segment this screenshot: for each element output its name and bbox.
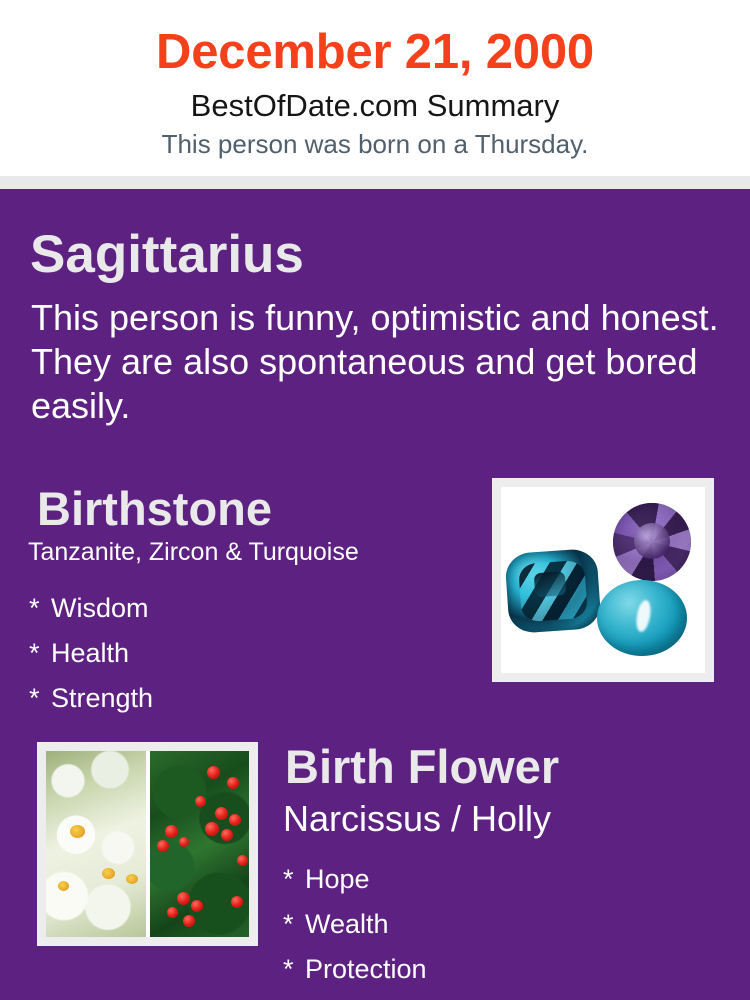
list-item: *Health	[29, 631, 153, 676]
holly-berry-icon	[179, 837, 189, 847]
holly-berry-icon	[229, 814, 241, 826]
holly-berry-icon	[231, 896, 243, 908]
birthstone-image-frame	[492, 478, 714, 682]
asterisk-bullet-icon: *	[283, 947, 305, 992]
zodiac-description: This person is funny, optimistic and hon…	[31, 296, 731, 428]
narcissus-corona-icon	[126, 874, 138, 884]
infographic-page: December 21, 2000 BestOfDate.com Summary…	[0, 0, 750, 1000]
holly-berry-icon	[195, 796, 206, 807]
birth-flower-image-frame	[37, 742, 258, 946]
list-item-label: Health	[51, 638, 129, 668]
birthstone-names: Tanzanite, Zircon & Turquoise	[28, 536, 359, 568]
asterisk-bullet-icon: *	[29, 631, 51, 676]
holly-berry-icon	[167, 907, 178, 918]
list-item-label: Wisdom	[51, 593, 149, 623]
birth-flower-image	[46, 751, 249, 937]
site-summary-label: BestOfDate.com Summary	[0, 87, 750, 125]
holly-berry-icon	[157, 840, 169, 852]
header: December 21, 2000 BestOfDate.com Summary…	[0, 0, 750, 176]
narcissus-corona-icon	[102, 868, 115, 879]
zodiac-sign-title: Sagittarius	[30, 224, 304, 286]
list-item: *Hope	[283, 857, 427, 902]
holly-photo-panel	[150, 751, 249, 937]
holly-berry-icon	[183, 915, 195, 927]
holly-berry-icon	[221, 829, 233, 841]
asterisk-bullet-icon: *	[283, 902, 305, 947]
holly-berry-icon	[227, 777, 239, 789]
holly-berry-icon	[205, 822, 219, 836]
birth-flower-names: Narcissus / Holly	[283, 797, 551, 841]
header-divider	[0, 176, 750, 189]
holly-berry-icon	[215, 807, 228, 820]
list-item-label: Hope	[305, 864, 370, 894]
list-item: *Strength	[29, 676, 153, 721]
tanzanite-gem-icon	[613, 503, 691, 581]
holly-berry-icon	[237, 855, 248, 866]
list-item-label: Protection	[305, 954, 427, 984]
narcissus-corona-icon	[58, 881, 69, 891]
zircon-gem-icon	[504, 548, 601, 634]
birthstone-image	[501, 487, 705, 673]
holly-berry-icon	[177, 892, 190, 905]
holly-berry-icon	[207, 766, 220, 779]
asterisk-bullet-icon: *	[29, 586, 51, 631]
turquoise-gem-icon	[597, 580, 687, 656]
asterisk-bullet-icon: *	[29, 676, 51, 721]
list-item-label: Strength	[51, 683, 153, 713]
birth-flower-heading: Birth Flower	[285, 739, 559, 795]
weekday-statement: This person was born on a Thursday.	[0, 128, 750, 160]
narcissus-photo-panel	[46, 751, 146, 937]
list-item: *Protection	[283, 947, 427, 992]
birthstone-heading: Birthstone	[37, 481, 272, 537]
list-item: *Wisdom	[29, 586, 153, 631]
narcissus-corona-icon	[70, 825, 85, 838]
holly-berry-icon	[191, 900, 203, 912]
birth-flower-trait-list: *Hope *Wealth *Protection	[283, 857, 427, 992]
asterisk-bullet-icon: *	[283, 857, 305, 902]
list-item: *Wealth	[283, 902, 427, 947]
page-title-date: December 21, 2000	[0, 22, 750, 82]
holly-berry-icon	[165, 825, 178, 838]
birthstone-trait-list: *Wisdom *Health *Strength	[29, 586, 153, 721]
list-item-label: Wealth	[305, 909, 389, 939]
